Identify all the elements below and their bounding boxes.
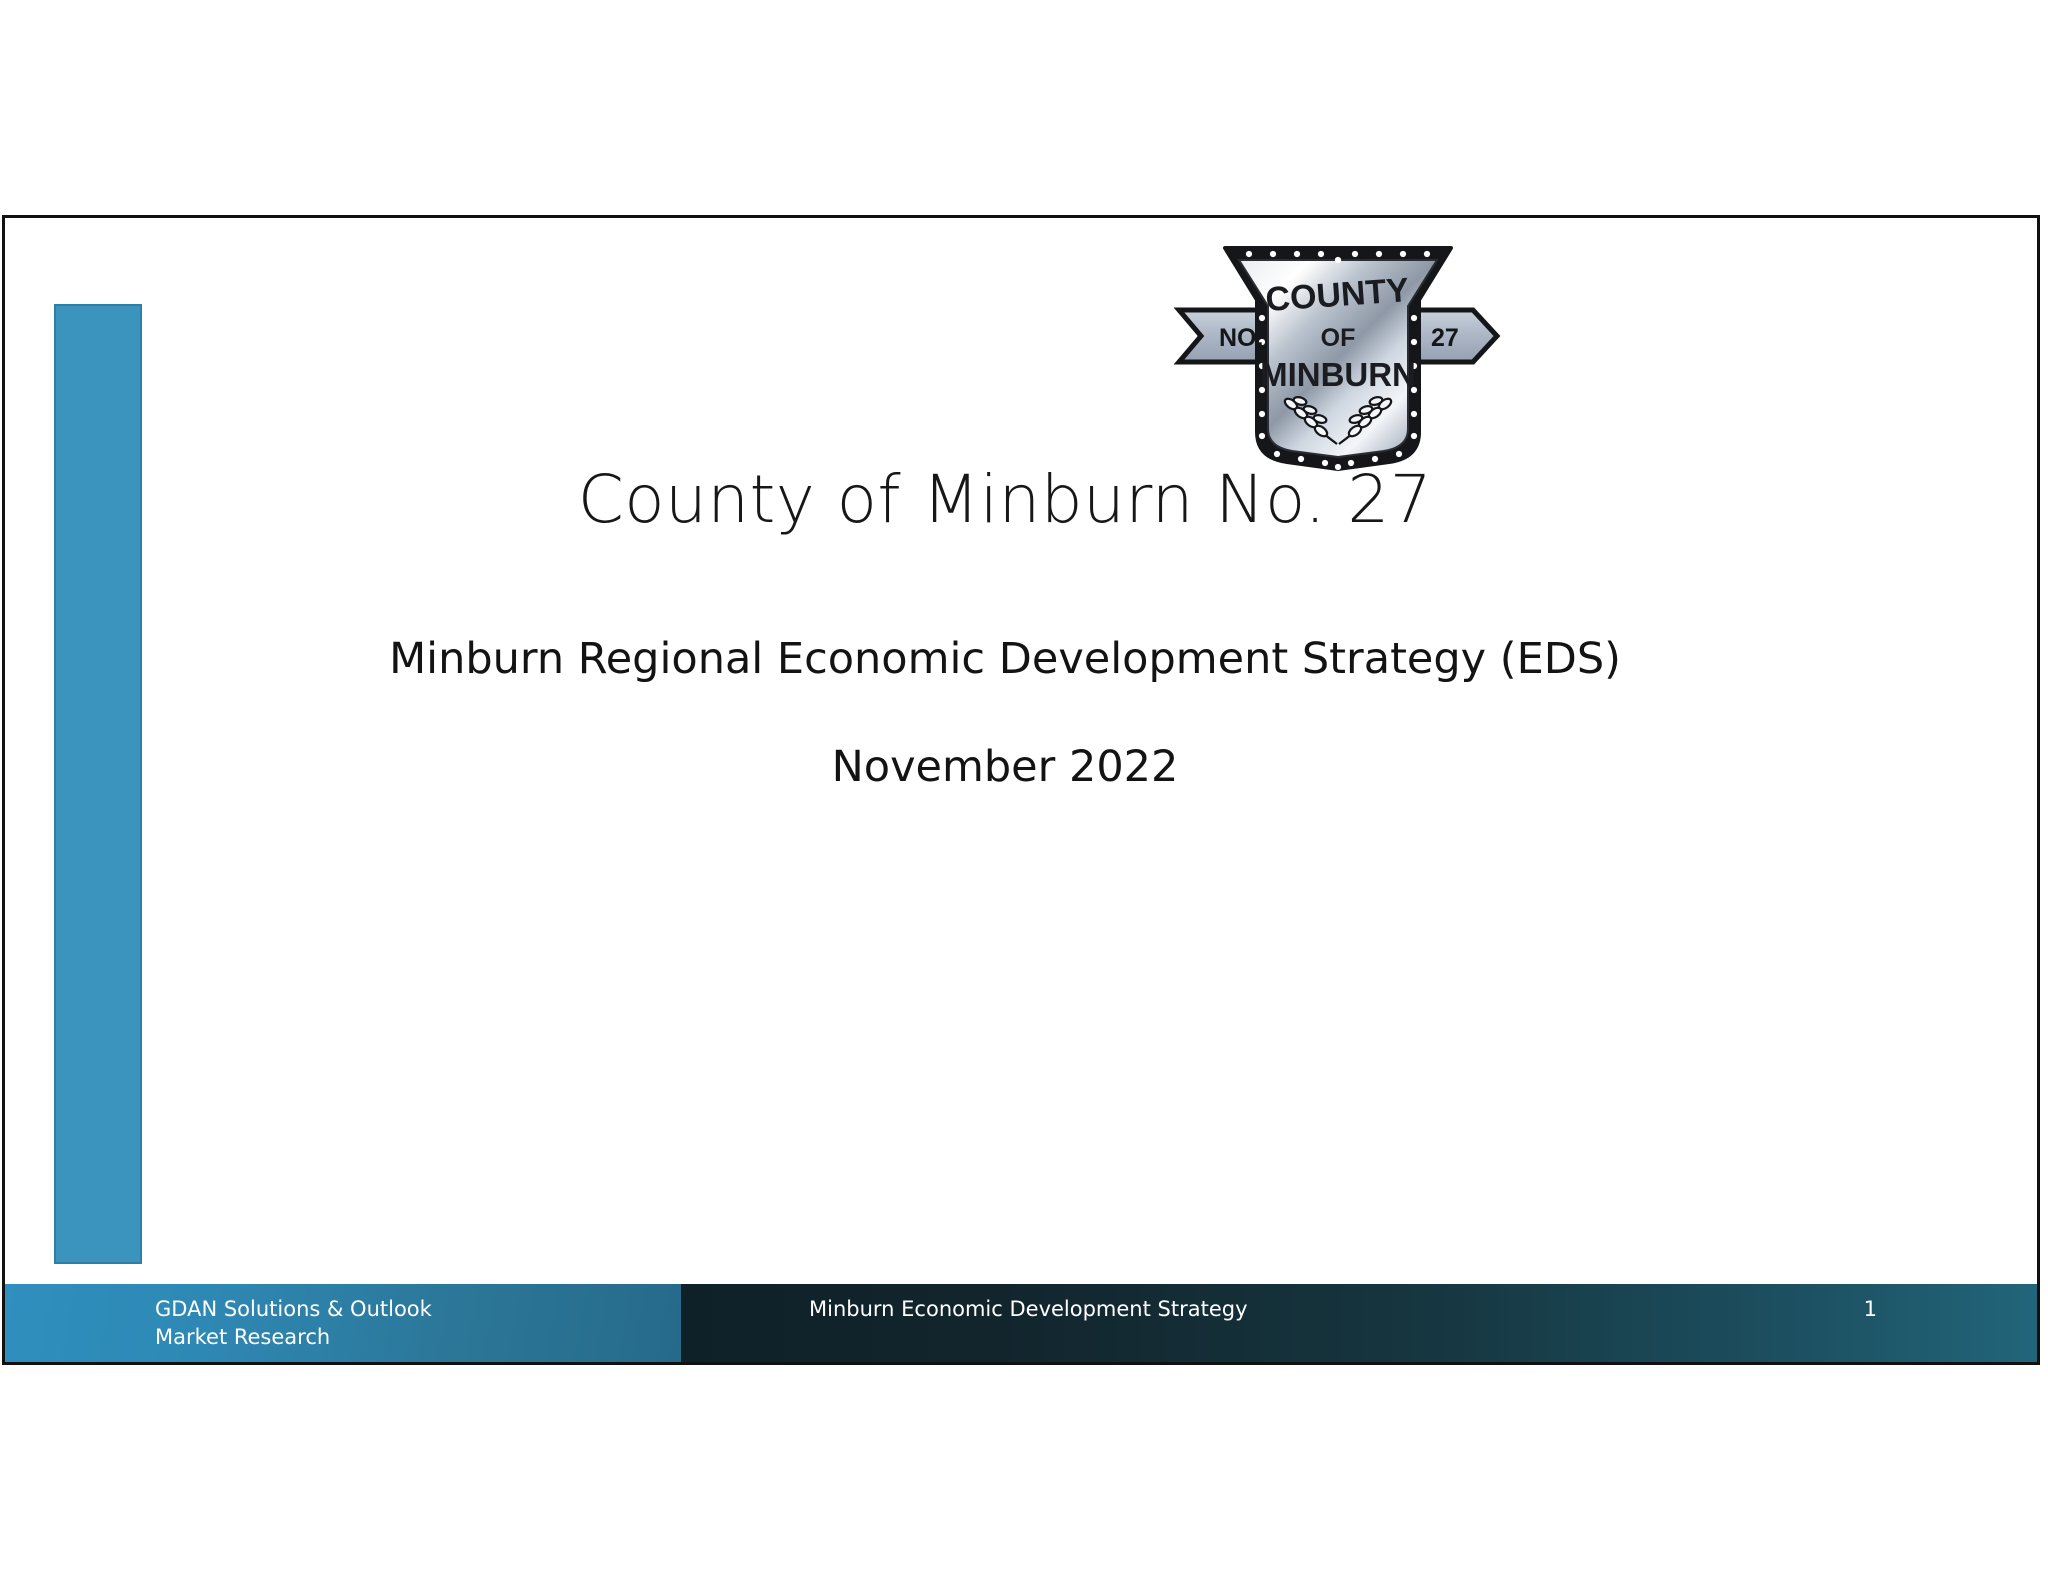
subtitle-block: Minburn Regional Economic Development St… [195,634,1815,686]
slide-date: November 2022 [195,742,1815,794]
date-block: November 2022 [195,742,1815,794]
title-block: County of Minburn No. 27 [195,463,1815,537]
slide-subtitle: Minburn Regional Economic Development St… [195,634,1815,686]
left-accent-bar [54,304,142,1264]
slide-footer: GDAN Solutions & Outlook Market Research… [5,1284,2037,1362]
slide-title: County of Minburn No. 27 [195,463,1815,537]
crest-ribbon-right-text: 27 [1431,324,1459,352]
crest-line-of: OF [1321,324,1356,352]
crest-line-minburn: MINBURN [1260,356,1416,393]
footer-organization-label: GDAN Solutions & Outlook Market Research [5,1295,499,1352]
county-crest-logo: NO. 27 COUNTY OF MINBURN [1173,226,1503,481]
footer-page-number: 1 [1864,1297,1877,1322]
footer-left-segment: GDAN Solutions & Outlook Market Research [5,1284,681,1362]
crest-ribbon-left-text: NO. [1219,324,1263,352]
footer-right-segment: Minburn Economic Development Strategy 1 [681,1284,2037,1362]
footer-document-title: Minburn Economic Development Strategy [809,1297,1248,1322]
slide-canvas: NO. 27 COUNTY OF MINBURN [2,215,2040,1365]
